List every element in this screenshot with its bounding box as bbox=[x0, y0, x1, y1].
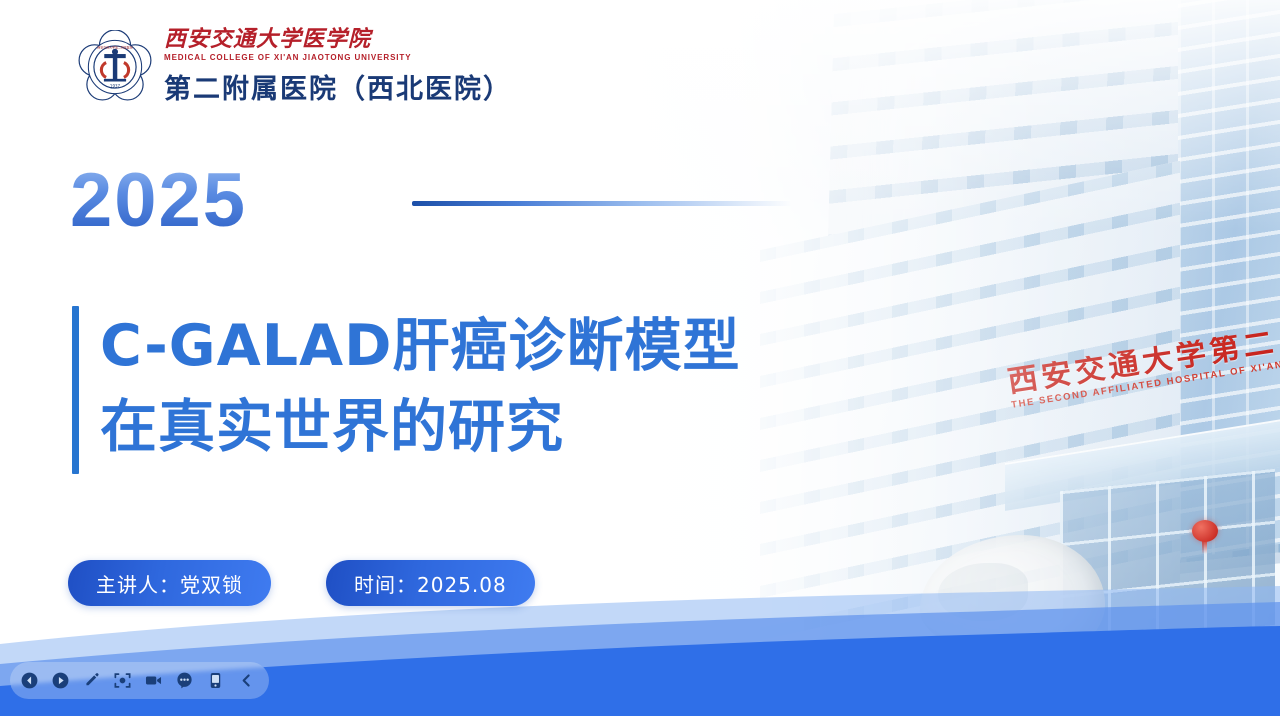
play-circle-icon[interactable] bbox=[46, 667, 74, 695]
university-emblem-icon: 西安交通大学第二附属医院 1937 bbox=[78, 30, 152, 104]
comment-bubble-icon[interactable] bbox=[170, 667, 198, 695]
mobile-remote-icon[interactable] bbox=[201, 667, 229, 695]
chevron-left-icon[interactable] bbox=[232, 667, 260, 695]
emblem-svg: 西安交通大学第二附属医院 1937 bbox=[78, 30, 152, 104]
pen-icon[interactable] bbox=[77, 667, 105, 695]
focus-frame-icon[interactable] bbox=[108, 667, 136, 695]
year-heading: 2025 bbox=[70, 163, 247, 239]
logo-college-english: MEDICAL COLLEGE OF XI'AN JIAOTONG UNIVER… bbox=[164, 53, 512, 62]
logo-hospital-name: 第二附属医院（西北医院） bbox=[164, 67, 512, 106]
svg-text:1937: 1937 bbox=[110, 84, 121, 89]
video-camera-icon[interactable] bbox=[139, 667, 167, 695]
title-line-2: 在真实世界的研究 bbox=[100, 387, 820, 468]
logo-college-chinese: 西安交通大学医学院 bbox=[164, 28, 512, 51]
page-title: C-GALAD肝癌诊断模型 在真实世界的研究 bbox=[100, 306, 820, 468]
hospital-logo-lockup: 西安交通大学第二附属医院 1937 西安交通大学医学院 MEDICAL COLL… bbox=[78, 28, 512, 106]
year-divider-line bbox=[412, 201, 792, 206]
title-line-1: C-GALAD肝癌诊断模型 bbox=[100, 306, 820, 387]
speaker-pill[interactable]: 主讲人：党双锁 bbox=[68, 560, 271, 606]
player-toolbar[interactable] bbox=[10, 662, 269, 699]
meta-pill-row: 主讲人：党双锁 时间：2025.08 bbox=[68, 560, 535, 606]
previous-arrow-icon[interactable] bbox=[15, 667, 43, 695]
date-pill[interactable]: 时间：2025.08 bbox=[326, 560, 535, 606]
title-accent-bar bbox=[72, 306, 79, 474]
presentation-slide: 西安交通大学第二 THE SECOND AFFILIATED HOSPITAL … bbox=[0, 0, 1280, 716]
logo-text-group: 西安交通大学医学院 MEDICAL COLLEGE OF XI'AN JIAOT… bbox=[164, 28, 512, 106]
svg-text:西安交通大学第二附属医院: 西安交通大学第二附属医院 bbox=[97, 45, 132, 50]
